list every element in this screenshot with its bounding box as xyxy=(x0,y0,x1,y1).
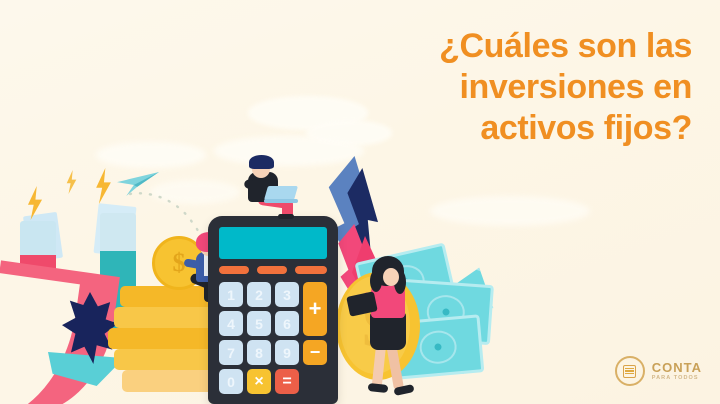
calculator-function-strip[interactable] xyxy=(219,266,249,274)
person-man-with-laptop xyxy=(232,156,304,222)
calc-key-4[interactable]: 4 xyxy=(219,311,243,336)
calculator-keypad: 1 2 3 + 4 5 6 7 8 9 − 0 × = xyxy=(219,282,327,394)
title-line-3: activos fijos? xyxy=(272,108,692,149)
calc-key-equals[interactable]: = xyxy=(275,369,299,394)
calculator-function-strip[interactable] xyxy=(295,266,327,274)
calculator-function-strip[interactable] xyxy=(257,266,287,274)
calc-key-minus[interactable]: − xyxy=(303,340,327,365)
calc-key-0[interactable]: 0 xyxy=(219,369,243,394)
calc-key-9[interactable]: 9 xyxy=(275,340,299,365)
title-line-2: inversiones en xyxy=(272,67,692,108)
illustration-canvas: ¿Cuáles son las inversiones en activos f… xyxy=(0,0,720,404)
brand-name: CONTA xyxy=(652,361,702,374)
calc-key-3[interactable]: 3 xyxy=(275,282,299,307)
calc-key-1[interactable]: 1 xyxy=(219,282,243,307)
ledger-book-icon xyxy=(615,356,645,386)
cloud-shape xyxy=(96,142,206,168)
person-woman-with-tablet xyxy=(356,254,426,400)
brand-tagline: PARA TODOS xyxy=(652,376,702,382)
calc-key-8[interactable]: 8 xyxy=(247,340,271,365)
calc-key-2[interactable]: 2 xyxy=(247,282,271,307)
page-title: ¿Cuáles son las inversiones en activos f… xyxy=(272,26,692,149)
calc-key-plus[interactable]: + xyxy=(303,282,327,336)
calc-key-times[interactable]: × xyxy=(247,369,271,394)
calculator[interactable]: 1 2 3 + 4 5 6 7 8 9 − 0 × = xyxy=(208,216,338,404)
cloud-shape xyxy=(430,196,590,226)
calc-key-7[interactable]: 7 xyxy=(219,340,243,365)
calc-key-5[interactable]: 5 xyxy=(247,311,271,336)
title-line-1: ¿Cuáles son las xyxy=(272,26,692,67)
calculator-display xyxy=(219,227,327,259)
brand-logo[interactable]: CONTA PARA TODOS xyxy=(615,356,702,386)
calc-key-6[interactable]: 6 xyxy=(275,311,299,336)
